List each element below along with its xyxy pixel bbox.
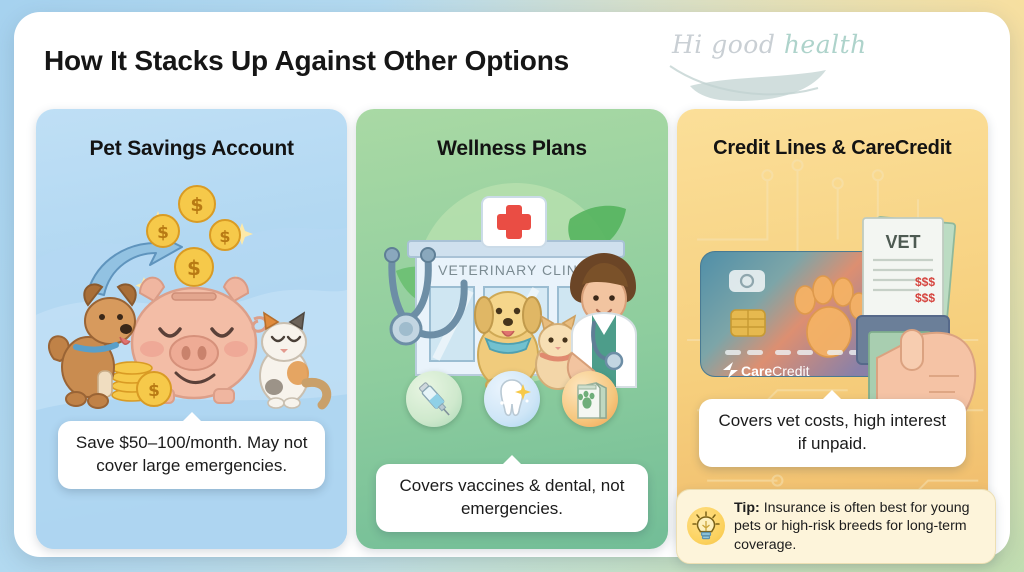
- chip-icon: [731, 310, 765, 336]
- watermark-text: Hi good health: [672, 30, 867, 59]
- veterinary-clinic-scene-icon: VETERINARY CLINIC: [356, 163, 666, 403]
- vet-bill-icon: VET $$$ $$$: [863, 217, 955, 327]
- tip-label: Tip:: [734, 500, 760, 516]
- svg-text:$: $: [148, 381, 160, 401]
- card-caption-pet-savings: Save $50–100/month. May not cover large …: [58, 421, 325, 489]
- tip-text: Tip: Insurance is often best for young p…: [734, 499, 983, 554]
- svg-text:$: $: [187, 256, 201, 280]
- vaccine-syringe-icon[interactable]: [406, 371, 462, 427]
- dental-tooth-icon[interactable]: [484, 371, 540, 427]
- content-panel: Hi good health How It Stacks Up Against …: [14, 12, 1010, 557]
- piggy-bank-scene-icon: $ $ $ $: [36, 171, 346, 421]
- infographic-page: Hi good health How It Stacks Up Against …: [0, 0, 1024, 572]
- card-credit-lines-carecredit[interactable]: Credit Lines & CareCredit: [677, 109, 988, 549]
- svg-text:$$$: $$$: [915, 275, 935, 289]
- card-title-wellness-plans: Wellness Plans: [356, 137, 667, 161]
- card-caption-carecredit: Covers vet costs, high interest if unpai…: [699, 399, 966, 467]
- card-title-pet-savings: Pet Savings Account: [36, 137, 347, 161]
- svg-text:$: $: [219, 227, 230, 246]
- contactless-icon: [729, 270, 765, 292]
- watermark-text-part2: health: [784, 30, 867, 59]
- leaf-icon: [668, 62, 844, 106]
- tip-box: Tip: Insurance is often best for young p…: [676, 489, 996, 564]
- vet-bill-label: VET: [885, 232, 920, 252]
- wellness-benefit-icons: [356, 371, 667, 427]
- clinic-sign-text: VETERINARY CLINIC: [438, 262, 594, 278]
- brand-watermark: Hi good health: [662, 20, 892, 112]
- card-wellness-plans[interactable]: Wellness Plans: [356, 109, 667, 549]
- svg-text:$: $: [157, 223, 169, 243]
- svg-text:$: $: [190, 194, 203, 216]
- card-caption-wellness-plans: Covers vaccines & dental, not emergencie…: [376, 464, 647, 532]
- page-title: How It Stacks Up Against Other Options: [44, 45, 569, 77]
- pet-food-bag-icon[interactable]: [562, 371, 618, 427]
- lightbulb-icon: [687, 507, 725, 545]
- svg-text:CareCredit: CareCredit: [741, 363, 810, 379]
- card-pet-savings-account[interactable]: Pet Savings Account: [36, 109, 347, 549]
- comparison-cards: Pet Savings Account: [36, 109, 988, 549]
- tip-body: Insurance is often best for young pets o…: [734, 500, 970, 553]
- svg-text:$$$: $$$: [915, 291, 935, 305]
- card-title-carecredit: Credit Lines & CareCredit: [677, 137, 988, 160]
- watermark-text-part1: Hi good: [672, 30, 775, 59]
